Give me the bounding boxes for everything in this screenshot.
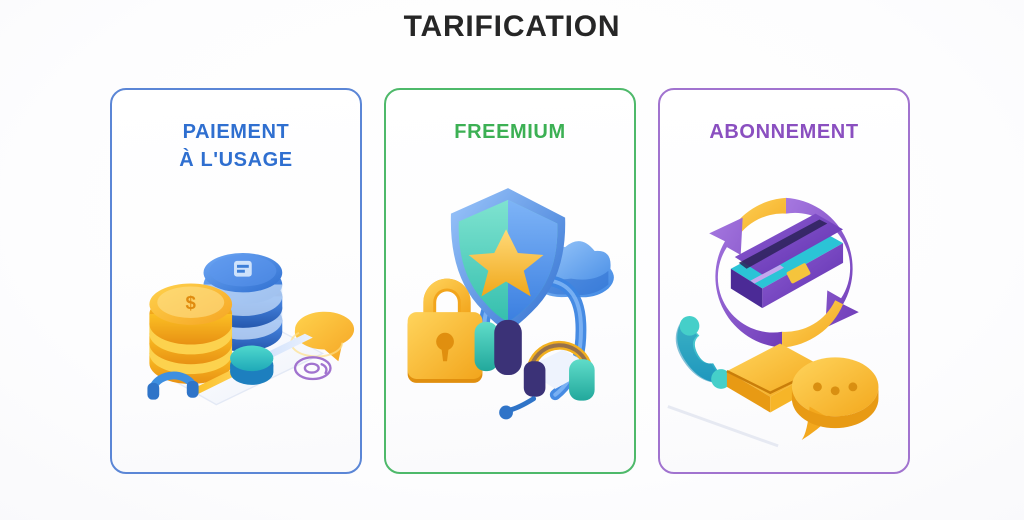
- ground-line: [668, 407, 778, 446]
- pricing-card-title-pay-as-you-go: PAIEMENT À L'USAGE: [112, 118, 360, 175]
- pricing-card-freemium[interactable]: FREEMIUM: [384, 88, 636, 474]
- purple-at-sign-icon: [295, 357, 330, 379]
- card-title-line-2: À L'USAGE: [179, 149, 293, 171]
- svg-text:$: $: [186, 292, 197, 313]
- card-title-line-1: PAIEMENT: [183, 121, 290, 143]
- shield-stand: [475, 320, 522, 375]
- freemium-illustration: [386, 176, 634, 456]
- pay-as-you-go-illustration: $: [112, 202, 360, 432]
- page-title: TARIFICATION: [0, 10, 1024, 44]
- pricing-slide: TARIFICATION PAIEMENT À L'USAGE: [0, 0, 1024, 520]
- blue-headphones-icon: [147, 375, 198, 399]
- yellow-chat-bubble-icon: [792, 357, 879, 440]
- gold-coin-stack-icon: $: [149, 284, 232, 384]
- card-title-line-1: ABONNEMENT: [709, 121, 858, 143]
- pricing-card-pay-as-you-go[interactable]: PAIEMENT À L'USAGE: [110, 88, 362, 474]
- teal-phone-handset-icon: [676, 316, 731, 389]
- pricing-card-subscription[interactable]: ABONNEMENT: [658, 88, 910, 474]
- purple-credit-card-icon: [731, 214, 843, 308]
- pricing-card-title-subscription: ABONNEMENT: [660, 118, 908, 146]
- subscription-illustration: [660, 176, 908, 456]
- card-title-line-1: FREEMIUM: [454, 121, 565, 143]
- pricing-card-title-freemium: FREEMIUM: [386, 118, 634, 146]
